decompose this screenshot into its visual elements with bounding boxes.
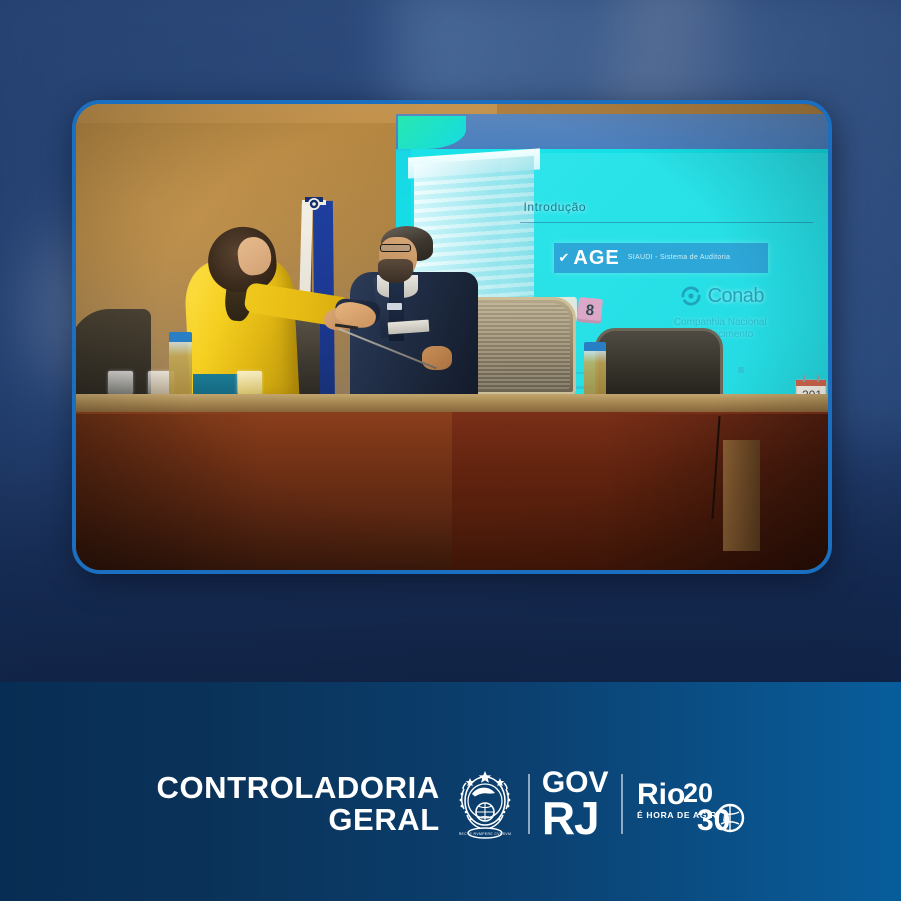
logo-divider xyxy=(528,774,530,834)
footer-band: CONTROLADORIA GERAL xyxy=(0,682,901,901)
gov-rj-wordmark: GOV RJ xyxy=(542,769,609,839)
rio-logo-icon: Rio 20 É HORA DE AGIR 30 xyxy=(635,768,745,840)
controladoria-line1: CONTROLADORIA xyxy=(156,770,439,805)
photo-vignette xyxy=(76,104,828,570)
rj-coat-of-arms: RECTE RVMPERE CVRSVM xyxy=(454,767,516,841)
poster-canvas: Introdução ✔ AGE SIAUDI - Sistema de Aud… xyxy=(0,0,901,901)
controladoria-line2: GERAL xyxy=(156,804,439,836)
coat-of-arms-motto: RECTE RVMPERE CVRSVM xyxy=(459,832,512,836)
rio-word: Rio xyxy=(637,778,685,811)
controladoria-geral-wordmark: CONTROLADORIA GERAL xyxy=(156,772,453,836)
rio-20-30-logo: Rio 20 É HORA DE AGIR 30 xyxy=(635,768,745,840)
coat-of-arms-icon: RECTE RVMPERE CVRSVM xyxy=(454,767,516,841)
rj-label: RJ xyxy=(542,797,609,839)
logo-divider xyxy=(621,774,623,834)
event-photo: Introdução ✔ AGE SIAUDI - Sistema de Aud… xyxy=(72,100,832,574)
footer-logo-row: CONTROLADORIA GERAL xyxy=(0,754,901,854)
